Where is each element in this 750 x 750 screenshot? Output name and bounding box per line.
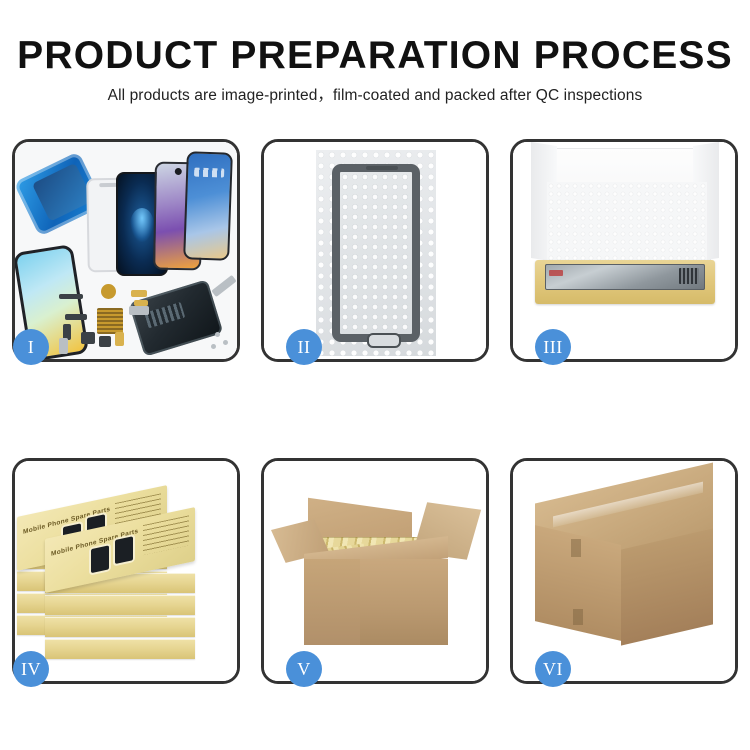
- bubble-wrap-sheet: [316, 150, 436, 356]
- step-3-image: [513, 142, 735, 359]
- step-panel-5[interactable]: V: [261, 458, 489, 684]
- step-panel-6[interactable]: VI: [510, 458, 738, 684]
- open-carton-scene: [264, 461, 486, 681]
- sealed-carton-scene: [513, 461, 735, 681]
- page-title: PRODUCT PREPARATION PROCESS: [0, 0, 750, 78]
- phone-parts-scene: [15, 142, 237, 359]
- step-badge-5: V: [286, 651, 322, 687]
- carton-front-face: [304, 559, 360, 645]
- step-badge-3: III: [535, 329, 571, 365]
- step-6-image: [513, 461, 735, 681]
- vibrator-part: [99, 336, 111, 347]
- step-badge-2: II: [286, 329, 322, 365]
- logic-board-part: [97, 308, 123, 334]
- step-badge-4: IV: [13, 651, 49, 687]
- step-numeral-3: III: [543, 338, 562, 356]
- step-2-image: [264, 142, 486, 359]
- screw-part-c: [211, 344, 216, 349]
- page-header: PRODUCT PREPARATION PROCESS All products…: [0, 0, 750, 106]
- carton-flap-notch-top: [571, 539, 581, 557]
- carton-flap-notch-bottom: [573, 609, 583, 625]
- step-5-image: [264, 461, 486, 681]
- open-kraft-box-scene: [513, 142, 735, 359]
- kraft-tray: [535, 260, 715, 304]
- sealed-carton-right-face: [621, 528, 713, 645]
- blue-gradient-phone: [183, 151, 233, 261]
- earpiece-part: [59, 294, 83, 299]
- step-badge-1: I: [13, 329, 49, 365]
- tweezers-tool: [211, 275, 236, 297]
- page-subtitle: All products are image-printed，film-coat…: [0, 78, 750, 106]
- screw-part-a: [215, 332, 220, 337]
- step-1-image: [15, 142, 237, 359]
- camera-module-part: [81, 332, 95, 344]
- stack-box-f2: [45, 595, 195, 615]
- process-steps-grid: I II: [0, 139, 750, 684]
- sim-tray-part: [59, 338, 68, 354]
- speaker-part: [101, 284, 116, 299]
- step-numeral-5: V: [297, 660, 311, 678]
- packed-screen-in-tray: [545, 264, 705, 290]
- box-artwork-chip-f2: [115, 536, 133, 564]
- step-panel-4[interactable]: Mobile Phone Spare Parts Mobil: [12, 458, 240, 684]
- step-badge-6: VI: [535, 651, 571, 687]
- step-numeral-1: I: [28, 338, 35, 356]
- step-numeral-4: IV: [21, 660, 41, 678]
- step-panel-1[interactable]: I: [12, 139, 240, 362]
- stacked-boxes-scene: Mobile Phone Spare Parts Mobil: [15, 461, 237, 681]
- foam-pad: [547, 182, 707, 268]
- flex-cable-part-a: [131, 290, 147, 297]
- bracket-part-a: [65, 314, 87, 320]
- stack-box-f3: [45, 617, 195, 637]
- box-artwork-chip-f1: [91, 545, 109, 573]
- stack-box-f4: [45, 639, 195, 659]
- battery-connector-part: [115, 332, 124, 346]
- step-panel-3[interactable]: III: [510, 139, 738, 362]
- step-numeral-2: II: [298, 338, 311, 356]
- screw-part-b: [223, 340, 228, 345]
- box-spec-lines-front: [143, 515, 189, 555]
- shield-plate-part: [129, 306, 149, 315]
- step-4-image: Mobile Phone Spare Parts Mobil: [15, 461, 237, 681]
- product-preparation-page: PRODUCT PREPARATION PROCESS All products…: [0, 0, 750, 750]
- wrapped-screen-assembly: [332, 164, 420, 342]
- bubble-wrap-scene: [264, 142, 486, 359]
- step-panel-2[interactable]: II: [261, 139, 489, 362]
- step-numeral-6: VI: [543, 660, 563, 678]
